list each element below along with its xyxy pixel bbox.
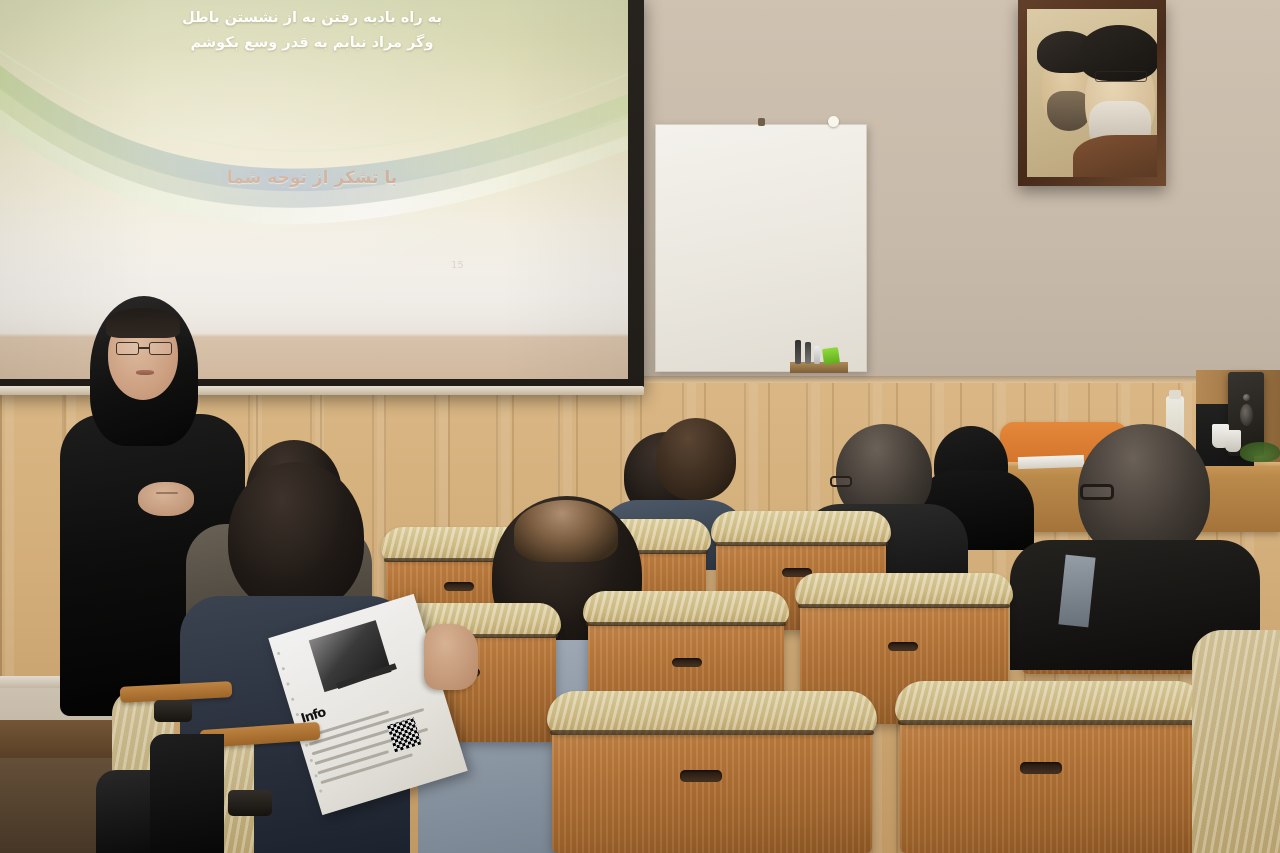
seat-front-center[interactable] [552, 700, 872, 853]
attendee-right-glasses-icon [1080, 484, 1114, 500]
presenter-hairline [106, 308, 180, 338]
attendee-hand-holding-flyer [424, 624, 478, 690]
attendee-holding-flyer-balding-crown [514, 500, 618, 562]
presenter-hand-crease [156, 492, 178, 494]
potted-greenery [1240, 442, 1280, 462]
water-bottle-cap [1169, 390, 1181, 399]
flyer-punch-hole [314, 774, 318, 778]
presenter-mouth [136, 370, 154, 375]
seat-front-right[interactable] [900, 690, 1200, 853]
seat-handle-slot [1020, 762, 1062, 774]
presenter-hands [138, 482, 194, 516]
attendee-front-left-leg [150, 734, 224, 853]
seat-trim-line [714, 542, 888, 546]
seat-top-fabric [895, 681, 1205, 725]
flyer-qr-code [387, 717, 422, 752]
marker-dark-icon [805, 342, 811, 364]
flyer-punch-hole [305, 743, 309, 747]
seat-trim-line [586, 622, 786, 626]
glasses-lens-right [149, 342, 172, 355]
seat-side-panel-right [1192, 630, 1280, 853]
seat-top-fabric [583, 591, 789, 625]
portrait-robe [1073, 135, 1157, 177]
armrest-pad-left-a [154, 700, 192, 722]
seat-handle-slot [444, 582, 474, 591]
glasses-bridge [139, 347, 149, 349]
attendee-front-left-head [228, 462, 364, 612]
speaker-driver-icon [1240, 404, 1253, 426]
portrait-glasses-icon [1095, 71, 1147, 82]
seat-top-fabric [547, 691, 877, 735]
seat-trim-line [898, 720, 1202, 725]
flyer-punch-hole [277, 652, 281, 656]
whiteboard-clip-left [758, 118, 765, 126]
flyer-punch-hole [291, 697, 295, 701]
seat-trim-line [550, 730, 874, 735]
whiteboard [655, 124, 867, 372]
marker-white-icon [814, 346, 820, 364]
seminar-room-photo: به راه بادیه رفتن به از نشستن باطل وگر م… [0, 0, 1280, 853]
flyer-punch-hole [295, 713, 299, 717]
attendee-glasses-lens-icon [830, 476, 852, 487]
seat-handle-slot [888, 642, 918, 651]
eraser-green-icon [822, 347, 840, 365]
flyer-punch-hole [286, 682, 290, 686]
portrait-image [1027, 9, 1157, 177]
attendee-center-blue-head [656, 418, 736, 500]
table-papers [1018, 455, 1084, 469]
seat-top-fabric [795, 573, 1013, 607]
speaker-tweeter-icon [1243, 394, 1250, 401]
marker-black-icon [795, 340, 801, 364]
seat-top-fabric [711, 511, 891, 545]
seat-handle-slot [680, 770, 722, 782]
flyer-punch-hole [281, 667, 285, 671]
flyer-punch-hole [310, 759, 314, 763]
paper-cup-2 [1225, 430, 1241, 452]
glasses-lens-left [116, 342, 139, 355]
flyer-punch-hole [319, 789, 323, 793]
seat-handle-slot [672, 658, 702, 667]
seat-trim-line [798, 604, 1010, 608]
framed-leader-portrait [1018, 0, 1166, 186]
whiteboard-clip-right [828, 116, 839, 127]
presenter-glasses-icon [116, 342, 172, 355]
armrest-pad-left-b [228, 790, 272, 816]
